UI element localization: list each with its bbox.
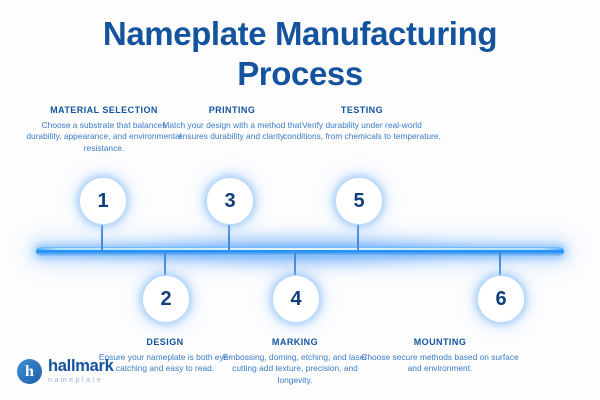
brand-logo[interactable]: h hallmark nameplate bbox=[17, 358, 113, 385]
step-description-6: Choose secure methods based on surface a… bbox=[360, 352, 520, 375]
step-text-block-6: MOUNTING Choose secure methods based on … bbox=[360, 336, 520, 375]
hallmark-badge-letter: h bbox=[17, 359, 42, 384]
step-number-4: 4 bbox=[290, 288, 301, 311]
step-title-4: MARKING bbox=[215, 336, 375, 348]
step-node-5[interactable]: 5 bbox=[335, 177, 383, 225]
page-title: Nameplate Manufacturing Process bbox=[0, 14, 600, 94]
brand-logo-wordmark: hallmark nameplate bbox=[48, 358, 113, 385]
step-title-5: TESTING bbox=[282, 104, 442, 116]
step-number-3: 3 bbox=[224, 190, 235, 213]
infographic-canvas: Nameplate Manufacturing Process MATERIAL… bbox=[0, 0, 600, 400]
page-title-line-2: Process bbox=[0, 54, 600, 94]
step-number-5: 5 bbox=[353, 190, 364, 213]
step-number-1: 1 bbox=[97, 190, 108, 213]
step-description-4: Embossing, doming, etching, and laser cu… bbox=[215, 352, 375, 386]
step-number-6: 6 bbox=[495, 288, 506, 311]
step-node-2[interactable]: 2 bbox=[142, 275, 190, 323]
step-text-block-5: TESTING Verify durability under real-wor… bbox=[282, 104, 442, 143]
step-number-2: 2 bbox=[160, 288, 171, 311]
hallmark-badge-icon: h bbox=[17, 359, 42, 384]
brand-subtitle: nameplate bbox=[48, 375, 113, 385]
brand-name: hallmark bbox=[48, 358, 113, 374]
step-node-1[interactable]: 1 bbox=[79, 177, 127, 225]
page-title-line-1: Nameplate Manufacturing bbox=[103, 15, 497, 52]
step-node-3[interactable]: 3 bbox=[206, 177, 254, 225]
step-text-block-4: MARKING Embossing, doming, etching, and … bbox=[215, 336, 375, 386]
step-description-5: Verify durability under real-world condi… bbox=[282, 120, 442, 143]
step-node-6[interactable]: 6 bbox=[477, 275, 525, 323]
step-title-6: MOUNTING bbox=[360, 336, 520, 348]
timeline-bar-highlight bbox=[38, 248, 562, 250]
step-node-4[interactable]: 4 bbox=[272, 275, 320, 323]
